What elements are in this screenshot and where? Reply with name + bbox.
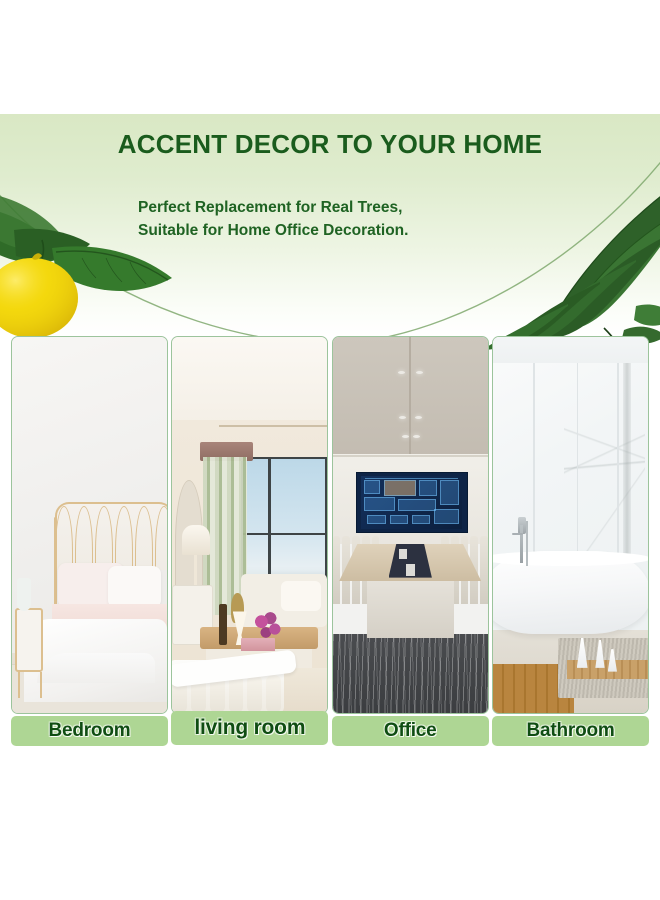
cushion [281, 581, 321, 611]
panel-bedroom[interactable] [11, 336, 168, 714]
label-bathroom[interactable]: Bathroom [492, 716, 649, 746]
ceiling-light [402, 435, 409, 438]
ceiling-light [398, 371, 405, 374]
nightstand [15, 608, 43, 672]
curtain-rail [219, 425, 327, 427]
promo-banner: ACCENT DECOR TO YOUR HOME Perfect Replac… [0, 0, 660, 900]
headboard-arches [55, 506, 168, 570]
table-power-module [399, 549, 407, 558]
room-label-row: Bedroom living room Office Bathroom [11, 716, 649, 746]
table-power-module [406, 564, 415, 575]
flowers [253, 608, 281, 642]
page-title: ACCENT DECOR TO YOUR HOME [0, 129, 660, 160]
ceiling-light [415, 416, 422, 419]
wine-bottle [219, 604, 227, 645]
duvet-fold [37, 653, 155, 683]
room-panel-row [11, 336, 649, 714]
ceiling [172, 337, 327, 427]
label-office[interactable]: Office [332, 716, 489, 746]
carpet-floor [333, 634, 488, 713]
subtitle-line-1: Perfect Replacement for Real Trees, [138, 197, 558, 220]
lamp-shade [182, 525, 210, 555]
ceiling-light [416, 371, 423, 374]
faucet-stem [520, 525, 523, 563]
wall-trim [333, 455, 488, 457]
panel-living-room[interactable] [171, 336, 328, 714]
pillow [108, 566, 161, 607]
presentation-display [356, 472, 468, 532]
window-mullion [241, 533, 328, 535]
ceiling [493, 337, 648, 363]
subtitle: Perfect Replacement for Real Trees, Suit… [138, 197, 558, 243]
nightstand-leg [18, 672, 20, 698]
panel-office[interactable] [332, 336, 489, 714]
nightstand-leg [40, 672, 42, 698]
panel-bathroom[interactable] [492, 336, 649, 714]
vase [17, 578, 31, 612]
living-room-scene [172, 337, 327, 713]
office-scene [333, 337, 488, 713]
bedroom-scene [12, 337, 167, 713]
ceiling-seam [409, 337, 411, 457]
subtitle-line-2: Suitable for Home Office Decoration. [138, 220, 558, 243]
dashboard-graphic [361, 476, 462, 530]
label-bedroom[interactable]: Bedroom [11, 716, 168, 746]
ceiling-light [413, 435, 420, 438]
handheld-shower [526, 521, 528, 566]
faucet-spout [512, 533, 523, 536]
label-living-room[interactable]: living room [171, 711, 328, 745]
table-base [367, 578, 454, 638]
bathroom-scene [493, 337, 648, 713]
